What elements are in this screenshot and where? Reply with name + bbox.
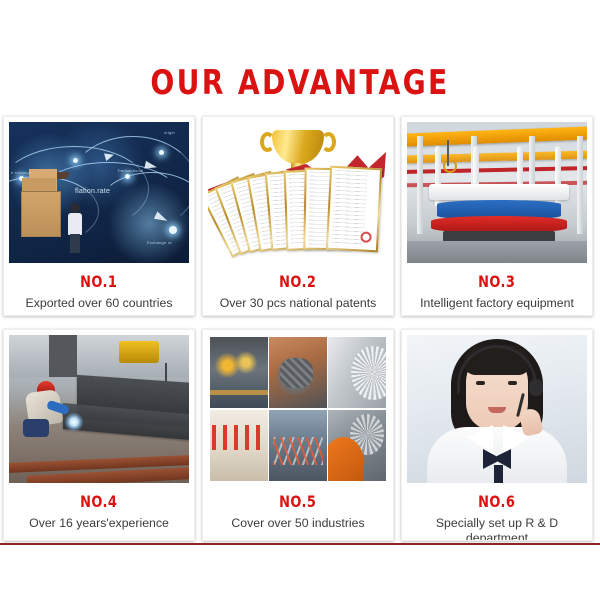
card-2-description: Over 30 pcs national patents [216,296,381,311]
trophy-and-certificates-photo [208,122,388,263]
card-1-label-origin: origin [164,130,175,135]
gold-trophy-icon [272,130,324,164]
card-6-description: Specially set up R & D department and af… [407,516,587,541]
cargo-boxes-icon [21,191,61,237]
card-1-image: origin e xchange Transactional flation.r… [9,122,189,263]
advantage-card-3[interactable]: NO.3 Intelligent factory equipment [401,116,593,316]
collage-tile-turbine [328,410,386,481]
card-5-image [208,335,388,483]
overhead-crane-beam [407,127,587,147]
welding-spark-glow [65,413,83,431]
global-logistics-network-photo: origin e xchange Transactional flation.r… [9,122,189,263]
factory-overhead-crane-machinery-photo [407,122,587,263]
card-1-label-left: e xchange [11,170,31,175]
card-3-image [407,122,587,263]
card-1-label-center: flation.rate [75,188,110,195]
welder-working-on-steel-beam-photo [9,335,189,483]
card-1-description: Exported over 60 countries [22,296,177,311]
card-1-number: NO.1 [80,273,117,290]
advantage-card-6[interactable]: NO.6 Specially set up R & D department a… [401,329,593,541]
card-4-number: NO.4 [80,493,117,510]
collage-tile-ceramics [210,410,268,481]
card-6-number: NO.6 [478,493,515,510]
page-title: OUR ADVANTAGE [24,63,576,103]
card-2-number: NO.2 [279,273,316,290]
advantage-card-grid: origin e xchange Transactional flation.r… [3,116,595,541]
card-4-description: Over 16 years'experience [25,516,173,531]
advantage-card-5[interactable]: NO.5 Cover over 50 industries [202,329,394,541]
card-1-label-exchange-rate: Exchange ra [147,240,172,245]
card-6-description-line-1: Specially set up R & D department [411,516,583,541]
advantage-card-4[interactable]: NO.4 Over 16 years'experience [3,329,195,541]
bottom-divider [0,543,600,545]
collage-tile-construction [269,410,327,481]
factory-floor [407,241,587,263]
card-2-image [208,122,388,263]
customer-service-representative-photo [407,335,587,483]
advantage-card-1[interactable]: origin e xchange Transactional flation.r… [3,116,195,316]
advantage-card-2[interactable]: NO.2 Over 30 pcs national patents [202,116,394,316]
collage-tile-steel-mill [210,337,268,408]
industry-collage-photo [208,335,388,483]
card-5-description: Cover over 50 industries [227,516,368,531]
card-1-label-transactional: Transactional [117,168,143,173]
card-5-number: NO.5 [279,493,316,510]
lifting-clamp-tool [119,341,159,363]
card-4-image [9,335,189,483]
card-3-number: NO.3 [478,273,515,290]
card-3-description: Intelligent factory equipment [416,296,578,311]
card-6-image [407,335,587,483]
collage-tile-metal-ore [269,337,327,408]
collage-tile-gears [328,337,386,408]
advantage-page: OUR ADVANTAGE [0,0,600,600]
worker-figure [67,203,83,253]
